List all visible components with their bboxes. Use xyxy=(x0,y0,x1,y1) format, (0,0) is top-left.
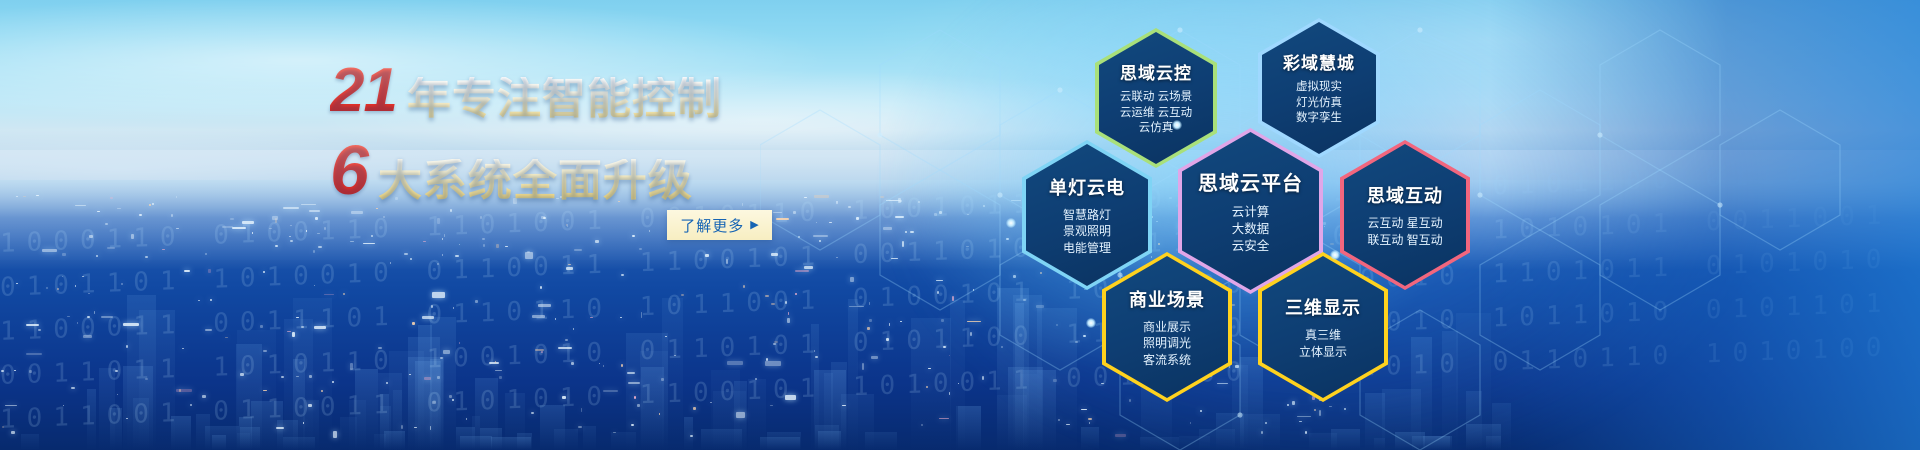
node-glow-dot xyxy=(1006,218,1016,228)
hex-node-caiyu-huicheng[interactable]: 彩域慧城虚拟现实灯光仿真数字孪生 xyxy=(1258,18,1380,158)
hex-node-subtitle: 大数据 xyxy=(1232,221,1270,238)
hex-node-body: 商业场景商业展示照明调光客流系统 xyxy=(1106,256,1228,398)
hex-node-subtitle: 真三维 xyxy=(1299,327,1347,343)
hex-node-body: 思域互动云互动 星互动联互动 智互动 xyxy=(1344,144,1466,286)
hex-node-title: 商业场景 xyxy=(1129,286,1205,312)
node-glow-dot xyxy=(1172,120,1182,130)
hex-node-siyu-yunkong[interactable]: 思域云控云联动 云场景云运维 云互动云仿真 xyxy=(1095,28,1217,168)
hex-node-subtitles: 虚拟现实灯光仿真数字孪生 xyxy=(1296,80,1342,127)
hex-node-subtitle: 数字孪生 xyxy=(1296,111,1342,127)
hex-node-subtitle: 云运维 云互动 xyxy=(1120,106,1192,122)
hex-node-subtitle: 电能管理 xyxy=(1063,240,1111,256)
hex-node-subtitles: 云计算大数据云安全 xyxy=(1232,204,1270,255)
hex-node-dandeng-yundian[interactable]: 单灯云电智慧路灯景观照明电能管理 xyxy=(1022,140,1152,290)
hex-node-subtitle: 云安全 xyxy=(1232,238,1270,255)
promo-banner: 1000110 0100110 1101001 0010110 1001011 … xyxy=(0,0,1920,450)
hex-node-title: 三维显示 xyxy=(1285,294,1361,320)
hex-node-body: 三维显示真三维立体显示 xyxy=(1262,256,1384,398)
hex-node-subtitle: 客流系统 xyxy=(1143,352,1191,368)
hex-node-title: 彩域慧城 xyxy=(1283,49,1355,74)
hex-node-subtitle: 立体显示 xyxy=(1299,344,1347,360)
hex-node-subtitles: 真三维立体显示 xyxy=(1299,327,1347,359)
hex-node-subtitle: 景观照明 xyxy=(1063,223,1111,239)
hex-node-subtitles: 商业展示照明调光客流系统 xyxy=(1143,319,1191,368)
hex-node-title: 思域云控 xyxy=(1120,59,1192,84)
hex-node-subtitle: 虚拟现实 xyxy=(1296,80,1342,96)
hex-node-subtitles: 云互动 星互动联互动 智互动 xyxy=(1367,215,1442,247)
hex-node-subtitle: 联互动 智互动 xyxy=(1367,232,1442,248)
hex-node-subtitle: 云互动 星互动 xyxy=(1367,215,1442,231)
hex-node-subtitles: 云联动 云场景云运维 云互动云仿真 xyxy=(1120,90,1192,137)
hex-node-title: 思域云平台 xyxy=(1198,167,1303,196)
hex-node-subtitle: 智慧路灯 xyxy=(1063,207,1111,223)
hex-node-subtitle: 云联动 云场景 xyxy=(1120,90,1192,106)
hex-node-title: 单灯云电 xyxy=(1049,174,1125,200)
hex-node-title: 思域互动 xyxy=(1367,182,1443,208)
hex-node-body: 彩域慧城虚拟现实灯光仿真数字孪生 xyxy=(1262,22,1376,154)
hex-node-subtitle: 云计算 xyxy=(1232,204,1270,221)
hex-node-shangye-changjing[interactable]: 商业场景商业展示照明调光客流系统 xyxy=(1102,252,1232,402)
hex-node-siyu-hudong[interactable]: 思域互动云互动 星互动联互动 智互动 xyxy=(1340,140,1470,290)
hex-network: 思域云控云联动 云场景云运维 云互动云仿真彩域慧城虚拟现实灯光仿真数字孪生单灯云… xyxy=(0,0,1920,450)
hex-node-subtitle: 照明调光 xyxy=(1143,335,1191,351)
hex-node-subtitle: 商业展示 xyxy=(1143,319,1191,335)
hex-node-subtitle: 灯光仿真 xyxy=(1296,96,1342,112)
hex-node-body: 单灯云电智慧路灯景观照明电能管理 xyxy=(1026,144,1148,286)
hex-node-body: 思域云控云联动 云场景云运维 云互动云仿真 xyxy=(1099,32,1213,164)
node-glow-dot xyxy=(1330,250,1340,260)
node-glow-dot xyxy=(1086,318,1096,328)
hex-node-subtitles: 智慧路灯景观照明电能管理 xyxy=(1063,207,1111,256)
